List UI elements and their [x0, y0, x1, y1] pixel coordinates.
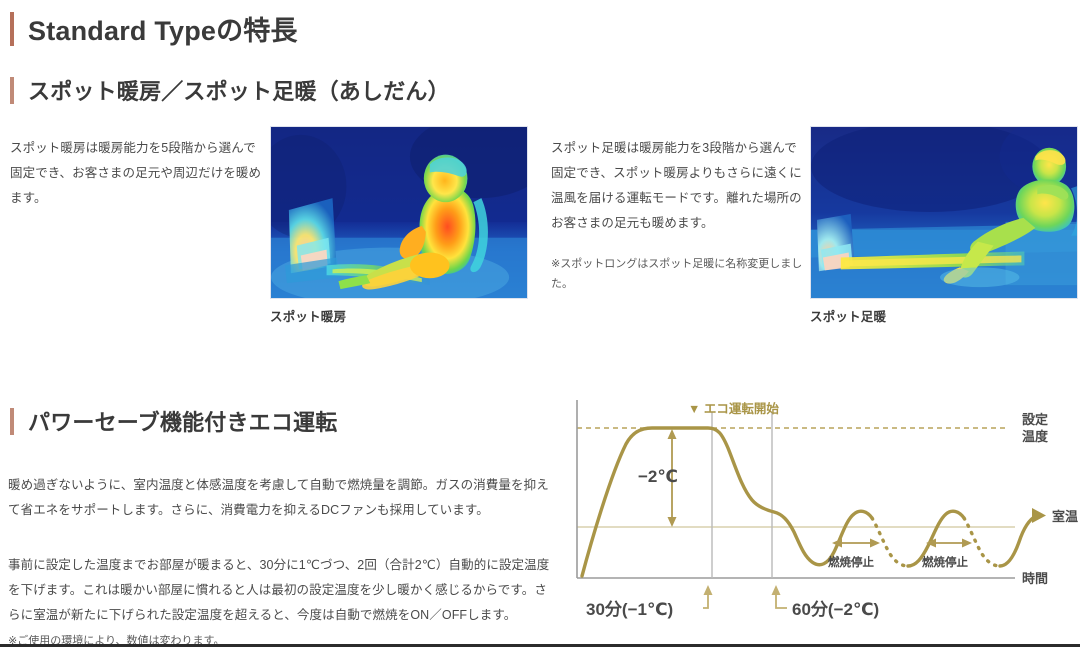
section-heading-eco-text: パワーセーブ機能付きエコ運転 [28, 405, 337, 437]
photo-caption-spot-foot: スポット足暖 [810, 306, 1078, 325]
tick-leader-60min [772, 585, 788, 608]
photo-block-spot-heating: スポット暖房 [270, 126, 528, 325]
thermal-image-spot-heating [270, 126, 528, 299]
photo-caption-spot-heating: スポット暖房 [270, 306, 528, 325]
burn-stop-arrow-1 [832, 539, 880, 548]
heading-accent-bar [10, 77, 14, 104]
room-temp-curve-3 [1000, 516, 1036, 566]
tick-label-60min: 60分(−2℃) [792, 600, 879, 619]
thermal-image-spot-foot [810, 126, 1078, 299]
settemp-label-line1: 設定 [1022, 412, 1048, 427]
spot-foot-description: スポット足暖は暖房能力を3段階から選んで固定でき、スポット暖房よりもさらに遠くに… [551, 136, 803, 236]
eco-description-1: 暖め過ぎないように、室内温度と体感温度を考慮して自動で燃焼量を調節。ガスの消費量… [8, 473, 553, 523]
page-root: Standard Typeの特長 スポット暖房／スポット足暖（あしだん） スポッ… [0, 0, 1080, 647]
burn-stop-label-1: 燃焼停止 [827, 555, 874, 569]
heading-accent-bar [10, 12, 14, 46]
burn-stop-arrow-2 [926, 539, 972, 548]
tick-leader-30min [703, 585, 713, 608]
tick-label-30min: 30分(−1℃) [586, 600, 673, 619]
spot-heating-description: スポット暖房は暖房能力を5段階から選んで固定でき、お客さまの足元や周辺だけを暖め… [10, 136, 268, 211]
eco-note: ※ご使用の環境により、数値は変わります。 [8, 631, 556, 647]
spot-foot-note: ※スポットロングはスポット足暖に名称変更しました。 [551, 254, 806, 295]
room-temp-curve-1 [582, 428, 872, 576]
time-axis-label: 時間 [1022, 571, 1048, 586]
section-heading-spot: スポット暖房／スポット足暖（あしだん） [10, 74, 450, 106]
section-heading-spot-text: スポット暖房／スポット足暖（あしだん） [28, 74, 450, 106]
room-temp-arrowhead [1032, 508, 1046, 523]
eco-operation-chart: −2℃ ▼ エコ運転開始 設定 温度 室温 時間 燃焼停止 燃焼停 [560, 396, 1080, 641]
section-heading-eco: パワーセーブ機能付きエコ運転 [10, 405, 337, 437]
eco-description-2: 事前に設定した温度までお部屋が暖まると、30分に1℃づつ、2回（合計2℃）自動的… [8, 553, 556, 628]
room-temp-label: 室温 [1052, 509, 1078, 524]
page-title-text: Standard Typeの特長 [28, 9, 298, 48]
heading-accent-bar [10, 408, 14, 435]
settemp-label-line2: 温度 [1022, 429, 1049, 444]
temperature-drop-label: −2℃ [638, 467, 678, 486]
photo-block-spot-foot: スポット足暖 [810, 126, 1078, 325]
page-title: Standard Typeの特長 [10, 9, 298, 48]
burn-stop-label-2: 燃焼停止 [921, 555, 968, 569]
eco-start-annotation: ▼ エコ運転開始 [688, 401, 779, 416]
eco-start-label: ▼ エコ運転開始 [688, 401, 779, 416]
